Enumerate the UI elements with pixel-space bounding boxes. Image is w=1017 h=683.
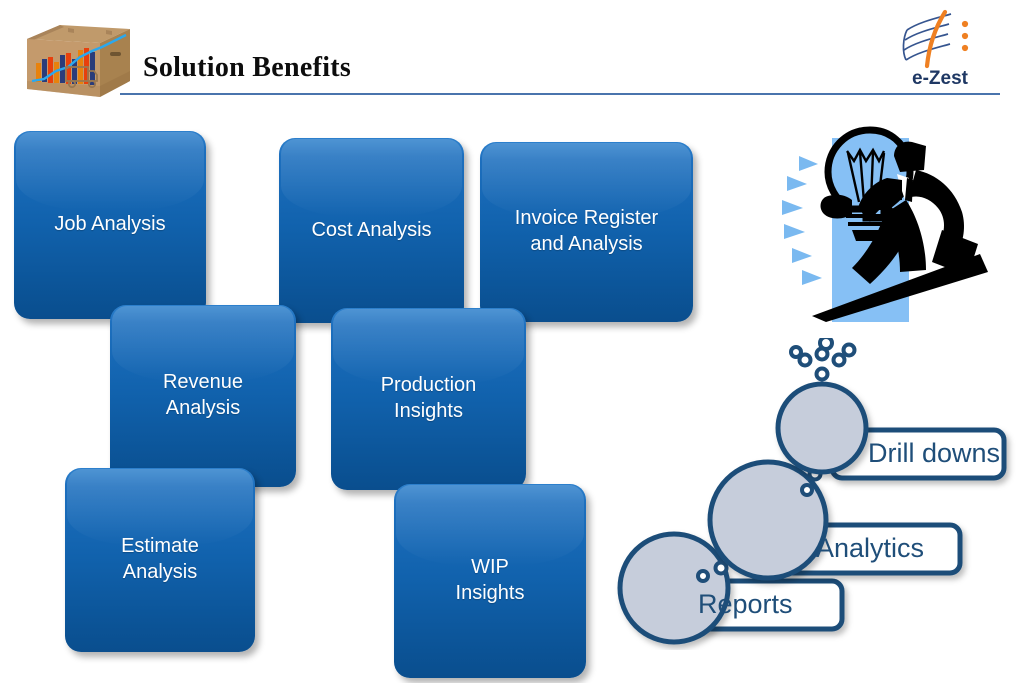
benefit-tile-wip-insights[interactable]: WIP Insights — [394, 484, 586, 678]
page-title: Solution Benefits — [143, 52, 351, 84]
step-drilldowns-label: Drill downs — [868, 438, 1000, 468]
sparkle-dots-icon — [791, 338, 855, 380]
step-drilldowns-circle — [778, 384, 866, 472]
benefit-tile-revenue-analysis[interactable]: Revenue Analysis — [110, 305, 296, 487]
benefit-tile-label: Revenue Analysis — [163, 370, 243, 421]
step-analytics-label: Analytics — [816, 533, 924, 563]
benefit-tile-label: Cost Analysis — [311, 218, 431, 244]
svg-text:e-Zest: e-Zest — [912, 68, 969, 89]
benefit-tile-label: Job Analysis — [54, 212, 165, 238]
benefit-tile-label: Estimate Analysis — [121, 534, 199, 585]
benefit-tile-label: Invoice Register and Analysis — [515, 206, 658, 257]
step-analytics-circle — [710, 462, 826, 578]
slide-canvas: Solution Benefits e-Zest Job Analysis Co… — [0, 0, 1017, 683]
benefit-tile-invoice-register[interactable]: Invoice Register and Analysis — [480, 142, 693, 322]
benefit-tile-label: Production Insights — [381, 373, 477, 424]
benefit-tile-job-analysis[interactable]: Job Analysis — [14, 131, 206, 319]
header-divider — [120, 93, 1000, 95]
benefit-tile-label: WIP Insights — [456, 555, 525, 606]
step-reports-circle — [620, 534, 728, 642]
step-reports-label: Reports — [698, 589, 793, 619]
benefit-tile-cost-analysis[interactable]: Cost Analysis — [279, 138, 464, 323]
lightbulb-businessman-idea-clipart — [766, 108, 1014, 330]
benefit-tile-production-insights[interactable]: Production Insights — [331, 308, 526, 490]
reports-analytics-drilldowns-staircase: Reports Analytics Drill — [600, 338, 1017, 650]
e-zest-logo: e-Zest — [885, 8, 995, 90]
benefit-tile-estimate-analysis[interactable]: Estimate Analysis — [65, 468, 255, 652]
shipping-box-chart-icon — [22, 19, 135, 101]
